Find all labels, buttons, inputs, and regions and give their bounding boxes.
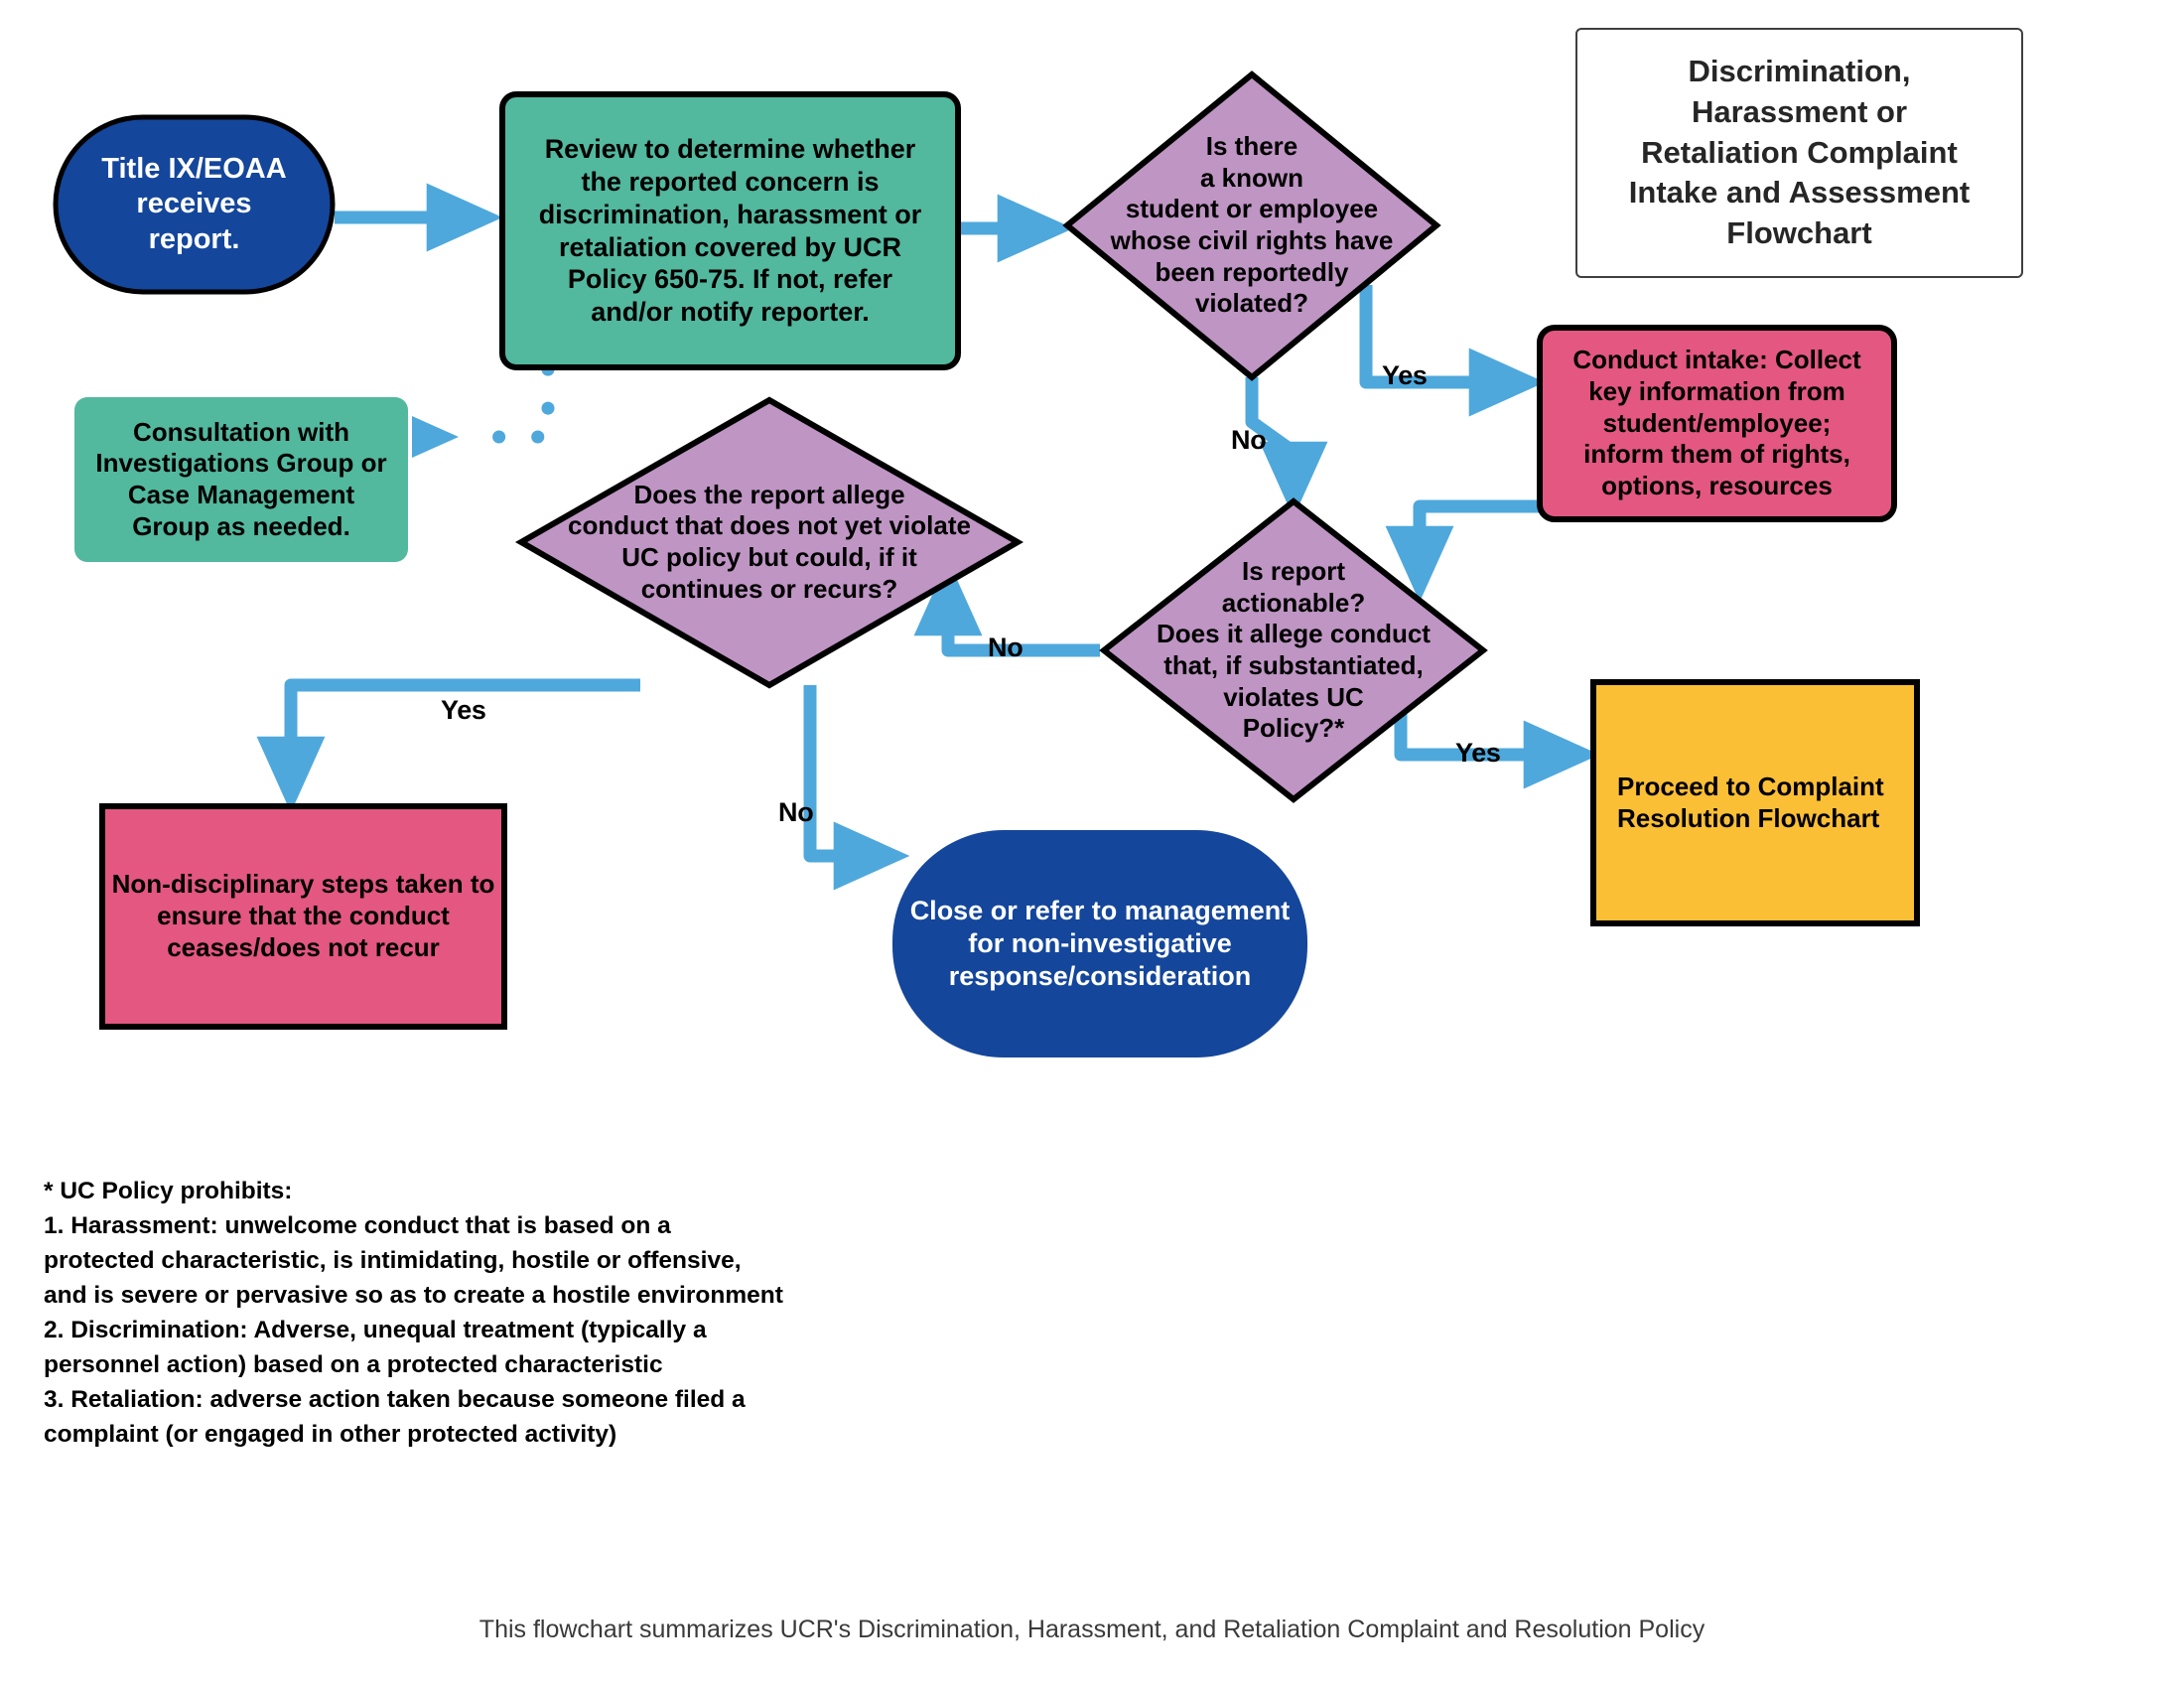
shape-start-receives-report[interactable]: [56, 117, 333, 292]
edge-label-d1-no: No: [1231, 425, 1266, 456]
shape-proceed-to-resolution-outcome[interactable]: [1593, 682, 1917, 923]
edge-label-d2-no: No: [988, 633, 1023, 663]
edge-label-d2-yes: Yes: [1455, 738, 1501, 769]
footer-caption: This flowchart summarizes UCR's Discrimi…: [0, 1616, 2184, 1644]
edge-label-d3-yes: Yes: [441, 695, 486, 726]
policy-footnote: * UC Policy prohibits: 1. Harassment: un…: [44, 1174, 1036, 1452]
shape-consultation-process[interactable]: [74, 397, 408, 562]
shape-close-or-refer-terminal[interactable]: [892, 830, 1307, 1057]
chart-title-box: Discrimination, Harassment or Retaliatio…: [1575, 28, 2023, 278]
page-title: Discrimination, Harassment or Retaliatio…: [1629, 52, 1970, 255]
edge-label-d1-yes: Yes: [1382, 360, 1428, 391]
flowchart-canvas: Title IX/EOAA receives report. Review to…: [0, 0, 2184, 1688]
shape-non-disciplinary-steps-action[interactable]: [102, 806, 504, 1027]
edge-label-d3-no: No: [778, 797, 813, 828]
shape-review-process[interactable]: [502, 94, 958, 367]
shape-decision-report-actionable[interactable]: [1104, 501, 1483, 799]
shape-decision-known-party[interactable]: [1067, 74, 1436, 377]
shape-decision-not-yet-violation[interactable]: [521, 400, 1018, 685]
shape-conduct-intake-action[interactable]: [1540, 328, 1894, 519]
